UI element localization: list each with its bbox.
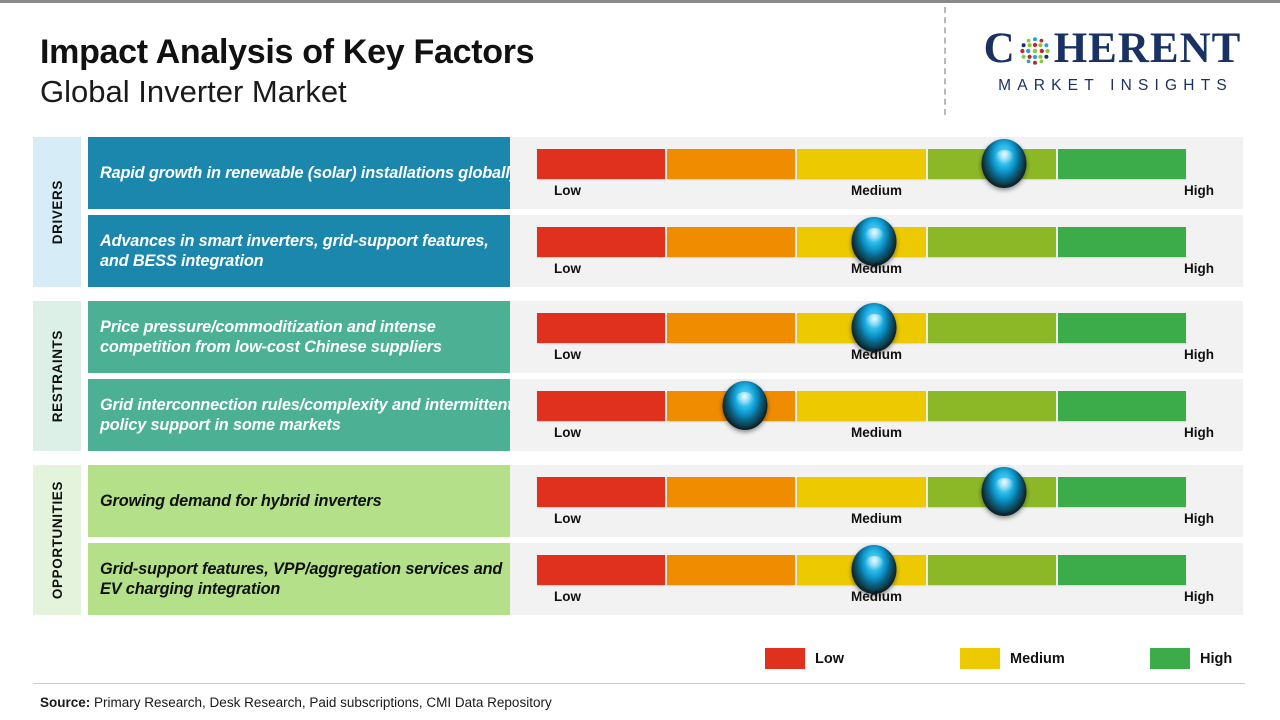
gauge-segment-2: [797, 477, 925, 507]
gauge-label-low: Low: [554, 183, 581, 198]
gauge-segment-0: [537, 555, 665, 585]
category-label-opportunities: OPPORTUNITIES: [33, 465, 81, 615]
factor-card-list: Growing demand for hybrid invertersGrid-…: [88, 465, 534, 615]
logo-letters-herent: HERENT: [1054, 27, 1242, 70]
gauge-segment-4: [1058, 313, 1186, 343]
gauge-segment-0: [537, 313, 665, 343]
legend: LowMediumHigh: [765, 648, 1185, 672]
impact-marker[interactable]: [852, 545, 897, 594]
gauge-tick-labels: LowMediumHigh: [510, 511, 1243, 531]
gauge-segment-0: [537, 391, 665, 421]
company-logo: C: [960, 27, 1265, 95]
gauge-tick-labels: LowMediumHigh: [510, 589, 1243, 609]
gauge-tick-labels: LowMediumHigh: [510, 261, 1243, 281]
factor-card[interactable]: Growing demand for hybrid inverters: [88, 465, 534, 537]
factor-card-list: Rapid growth in renewable (solar) instal…: [88, 137, 534, 287]
factor-card-list: Price pressure/commoditization and inten…: [88, 301, 534, 451]
category-label-text: DRIVERS: [50, 180, 65, 244]
category-group-restraints: RESTRAINTSPrice pressure/commoditization…: [33, 301, 503, 451]
gauge-segment-0: [537, 149, 665, 179]
gauge-segment-2: [797, 391, 925, 421]
category-label-text: RESTRAINTS: [50, 330, 65, 422]
gauge-segment-0: [537, 477, 665, 507]
gauge-label-medium: Medium: [851, 261, 902, 276]
logo-wordmark: C: [960, 27, 1265, 70]
gauge-segment-4: [1058, 227, 1186, 257]
factor-card[interactable]: Price pressure/commoditization and inten…: [88, 301, 534, 373]
impact-marker[interactable]: [982, 139, 1027, 188]
gauge-segment-2: [797, 149, 925, 179]
page-title: Impact Analysis of Key Factors: [40, 33, 534, 71]
gauge-label-high: High: [1184, 589, 1214, 604]
factor-text: Growing demand for hybrid inverters: [100, 491, 382, 511]
category-group-opportunities: OPPORTUNITIESGrowing demand for hybrid i…: [33, 465, 503, 615]
gauge-label-low: Low: [554, 347, 581, 362]
gauge-label-low: Low: [554, 511, 581, 526]
gauge-label-medium: Medium: [851, 589, 902, 604]
legend-label: Low: [815, 651, 844, 667]
gauge-label-high: High: [1184, 511, 1214, 526]
legend-swatch: [765, 648, 805, 669]
gauge-label-low: Low: [554, 589, 581, 604]
gauge-label-medium: Medium: [851, 347, 902, 362]
gauge-label-medium: Medium: [851, 183, 902, 198]
factor-text: Grid interconnection rules/complexity an…: [100, 395, 520, 435]
factor-card[interactable]: Advances in smart inverters, grid-suppor…: [88, 215, 534, 287]
logo-divider: [944, 7, 946, 115]
gauge-scale-bar: [537, 149, 1186, 179]
title-block: Impact Analysis of Key Factors Global In…: [40, 33, 534, 111]
gauge-segment-3: [928, 555, 1056, 585]
footer-divider: [33, 683, 1245, 684]
legend-item: Medium: [960, 648, 1065, 669]
factor-text: Advances in smart inverters, grid-suppor…: [100, 231, 520, 271]
source-text: Primary Research, Desk Research, Paid su…: [94, 695, 552, 710]
gauge-segment-0: [537, 227, 665, 257]
gauge-segment-3: [928, 313, 1056, 343]
factor-text: Grid-support features, VPP/aggregation s…: [100, 559, 520, 599]
gauge-segment-4: [1058, 555, 1186, 585]
category-label-text: OPPORTUNITIES: [50, 481, 65, 599]
legend-label: Medium: [1010, 651, 1065, 667]
gauge-scale-bar: [537, 391, 1186, 421]
legend-swatch: [1150, 648, 1190, 669]
legend-label: High: [1200, 651, 1232, 667]
factor-card[interactable]: Rapid growth in renewable (solar) instal…: [88, 137, 534, 209]
gauge-label-high: High: [1184, 183, 1214, 198]
gauge-tick-labels: LowMediumHigh: [510, 183, 1243, 203]
gauge-segment-4: [1058, 391, 1186, 421]
impact-marker[interactable]: [982, 467, 1027, 516]
gauge-segment-1: [667, 149, 795, 179]
gauge-segment-1: [667, 313, 795, 343]
impact-marker[interactable]: [852, 217, 897, 266]
gauge-segment-4: [1058, 149, 1186, 179]
impact-gauge[interactable]: LowMediumHigh: [510, 379, 1243, 451]
gauge-segment-1: [667, 555, 795, 585]
factor-text: Price pressure/commoditization and inten…: [100, 317, 520, 357]
gauge-label-medium: Medium: [851, 511, 902, 526]
gauge-segment-3: [928, 391, 1056, 421]
impact-gauge[interactable]: LowMediumHigh: [510, 543, 1243, 615]
impact-marker[interactable]: [852, 303, 897, 352]
legend-item: Low: [765, 648, 844, 669]
logo-letter-c: C: [984, 27, 1016, 70]
source-label: Source:: [40, 695, 90, 710]
gauge-segment-1: [667, 477, 795, 507]
legend-item: High: [1150, 648, 1232, 669]
impact-gauge[interactable]: LowMediumHigh: [510, 215, 1243, 287]
header: Impact Analysis of Key Factors Global In…: [0, 3, 1280, 133]
gauge-tick-labels: LowMediumHigh: [510, 347, 1243, 367]
gauge-label-high: High: [1184, 347, 1214, 362]
impact-gauge[interactable]: LowMediumHigh: [510, 301, 1243, 373]
factor-card[interactable]: Grid-support features, VPP/aggregation s…: [88, 543, 534, 615]
impact-gauge[interactable]: LowMediumHigh: [510, 137, 1243, 209]
gauge-tick-labels: LowMediumHigh: [510, 425, 1243, 445]
impact-marker[interactable]: [722, 381, 767, 430]
impact-gauge[interactable]: LowMediumHigh: [510, 465, 1243, 537]
gauge-label-medium: Medium: [851, 425, 902, 440]
category-label-drivers: DRIVERS: [33, 137, 81, 287]
gauge-scale-bar: [537, 477, 1186, 507]
legend-swatch: [960, 648, 1000, 669]
source-line: Source: Primary Research, Desk Research,…: [40, 695, 552, 710]
gauge-label-high: High: [1184, 425, 1214, 440]
page-subtitle: Global Inverter Market: [40, 74, 534, 111]
factor-text: Rapid growth in renewable (solar) instal…: [100, 163, 519, 183]
gauge-segment-1: [667, 227, 795, 257]
gauge-label-low: Low: [554, 261, 581, 276]
gauge-label-low: Low: [554, 425, 581, 440]
gauge-segment-3: [928, 227, 1056, 257]
category-label-restraints: RESTRAINTS: [33, 301, 81, 451]
logo-tagline: MARKET INSIGHTS: [960, 77, 1265, 95]
globe-dot-sphere-icon: [1017, 33, 1053, 69]
gauge-label-high: High: [1184, 261, 1214, 276]
gauge-segment-4: [1058, 477, 1186, 507]
factor-card[interactable]: Grid interconnection rules/complexity an…: [88, 379, 534, 451]
category-group-drivers: DRIVERSRapid growth in renewable (solar)…: [33, 137, 503, 287]
